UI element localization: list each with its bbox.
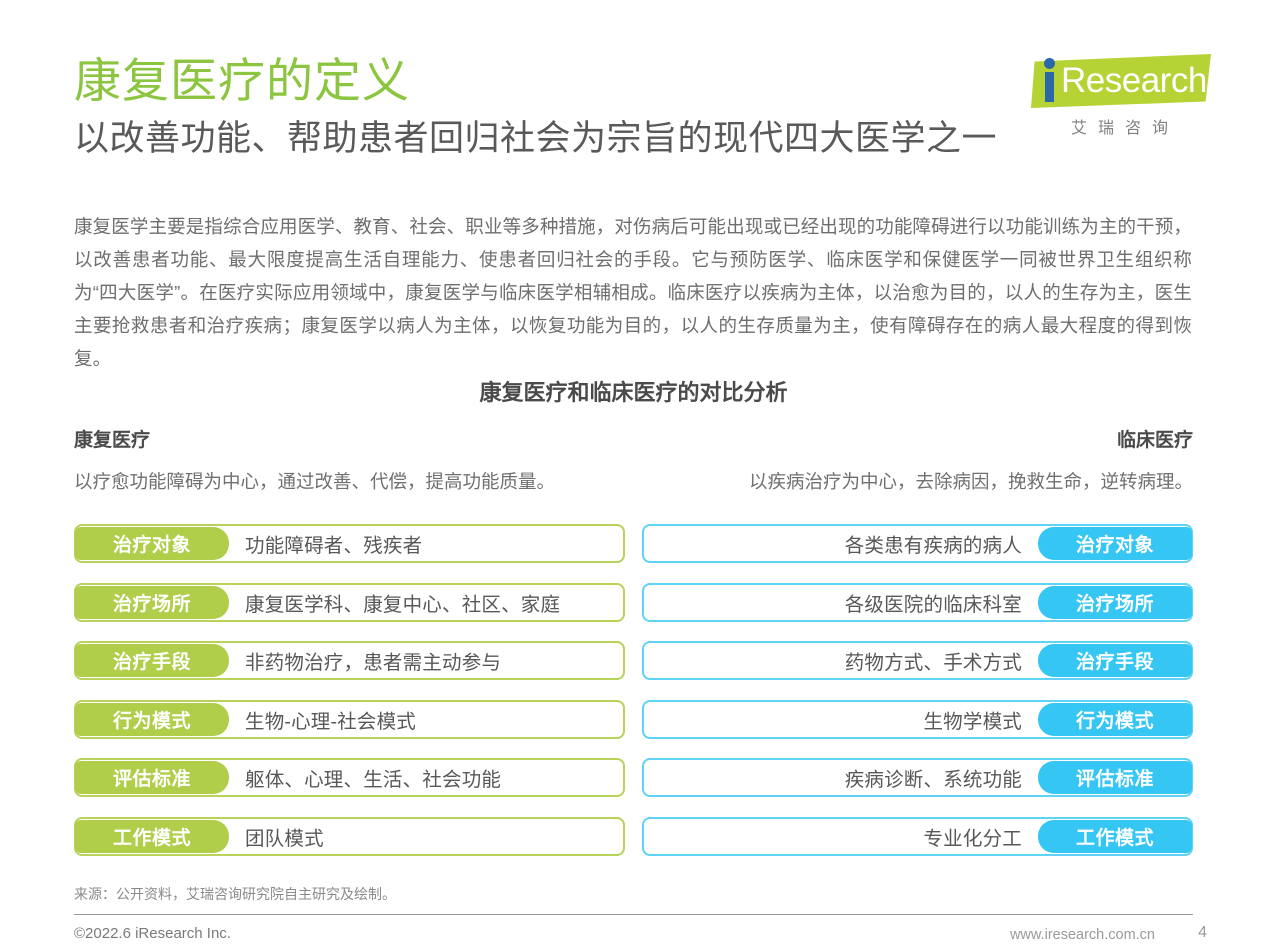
logo-i-dot-icon: [1044, 58, 1055, 69]
comparison-table: 治疗对象 功能障碍者、残疾者 各类患有疾病的病人 治疗对象 治疗场所 康复医学科…: [74, 524, 1193, 864]
website-url: www.iresearch.com.cn: [1010, 924, 1155, 946]
logo-i-stem-icon: [1045, 72, 1054, 102]
clinical-value: 专业化分工: [644, 822, 1038, 851]
row-label-pill: 治疗对象: [75, 527, 229, 560]
column-header-rehabilitation: 康复医疗: [74, 428, 150, 454]
row-label-pill: 治疗对象: [1038, 527, 1192, 560]
footer-divider: [74, 914, 1193, 915]
comparison-heading: 康复医疗和临床医疗的对比分析: [0, 378, 1267, 408]
row-label-pill: 治疗手段: [75, 644, 229, 677]
clinical-value: 各级医院的临床科室: [644, 588, 1038, 617]
row-label-pill: 行为模式: [1038, 703, 1192, 736]
rehab-value: 生物-心理-社会模式: [229, 705, 623, 734]
table-row: 治疗场所 康复医学科、康复中心、社区、家庭 各级医院的临床科室 治疗场所: [74, 583, 1193, 622]
source-note: 来源：公开资料，艾瑞咨询研究院自主研究及绘制。: [74, 884, 396, 904]
rehab-value: 团队模式: [229, 822, 623, 851]
row-label-pill: 工作模式: [1038, 820, 1192, 853]
table-row: 治疗手段 非药物治疗，患者需主动参与 药物方式、手术方式 治疗手段: [74, 641, 1193, 680]
intro-paragraph: 康复医学主要是指综合应用医学、教育、社会、职业等多种措施，对伤病后可能出现或已经…: [74, 210, 1192, 375]
rehab-cell: 工作模式 团队模式: [74, 817, 625, 856]
table-row: 行为模式 生物-心理-社会模式 生物学模式 行为模式: [74, 700, 1193, 739]
column-header-clinical: 临床医疗: [1117, 428, 1193, 454]
rehab-value: 非药物治疗，患者需主动参与: [229, 646, 623, 675]
rehab-cell: 治疗手段 非药物治疗，患者需主动参与: [74, 641, 625, 680]
clinical-value: 各类患有疾病的病人: [644, 529, 1038, 558]
iresearch-logo: Research 艾瑞咨询: [1031, 54, 1211, 140]
clinical-cell: 疾病诊断、系统功能 评估标准: [642, 758, 1193, 797]
row-label-pill: 工作模式: [75, 820, 229, 853]
logo-wordmark: Research: [1061, 61, 1207, 101]
table-row: 工作模式 团队模式 专业化分工 工作模式: [74, 817, 1193, 856]
clinical-cell: 各级医院的临床科室 治疗场所: [642, 583, 1193, 622]
copyright-text: ©2022.6 iResearch Inc.: [74, 923, 231, 945]
table-row: 治疗对象 功能障碍者、残疾者 各类患有疾病的病人 治疗对象: [74, 524, 1193, 563]
rehab-cell: 行为模式 生物-心理-社会模式: [74, 700, 625, 739]
rehab-cell: 治疗对象 功能障碍者、残疾者: [74, 524, 625, 563]
clinical-cell: 生物学模式 行为模式: [642, 700, 1193, 739]
clinical-cell: 各类患有疾病的病人 治疗对象: [642, 524, 1193, 563]
rehab-cell: 治疗场所 康复医学科、康复中心、社区、家庭: [74, 583, 625, 622]
row-label-pill: 行为模式: [75, 703, 229, 736]
clinical-value: 生物学模式: [644, 705, 1038, 734]
row-label-pill: 治疗场所: [1038, 586, 1192, 619]
row-label-pill: 治疗手段: [1038, 644, 1192, 677]
rehab-value: 康复医学科、康复中心、社区、家庭: [229, 588, 623, 617]
row-label-pill: 评估标准: [75, 761, 229, 794]
page-number: 4: [1185, 922, 1207, 944]
clinical-value: 疾病诊断、系统功能: [644, 763, 1038, 792]
column-description-rehabilitation: 以疗愈功能障碍为中心，通过改善、代偿，提高功能质量。: [74, 468, 555, 496]
row-label-pill: 治疗场所: [75, 586, 229, 619]
rehab-value: 功能障碍者、残疾者: [229, 529, 623, 558]
clinical-cell: 药物方式、手术方式 治疗手段: [642, 641, 1193, 680]
clinical-cell: 专业化分工 工作模式: [642, 817, 1193, 856]
row-label-pill: 评估标准: [1038, 761, 1192, 794]
slide-canvas: 康复医疗的定义 以改善功能、帮助患者回归社会为宗旨的现代四大医学之一 Resea…: [0, 0, 1267, 949]
clinical-value: 药物方式、手术方式: [644, 646, 1038, 675]
rehab-value: 躯体、心理、生活、社会功能: [229, 763, 623, 792]
logo-chinese-name: 艾瑞咨询: [1031, 114, 1211, 138]
table-row: 评估标准 躯体、心理、生活、社会功能 疾病诊断、系统功能 评估标准: [74, 758, 1193, 797]
logo-badge: Research: [1031, 54, 1211, 108]
column-description-clinical: 以疾病治疗为中心，去除病因，挽救生命，逆转病理。: [749, 468, 1193, 496]
rehab-cell: 评估标准 躯体、心理、生活、社会功能: [74, 758, 625, 797]
